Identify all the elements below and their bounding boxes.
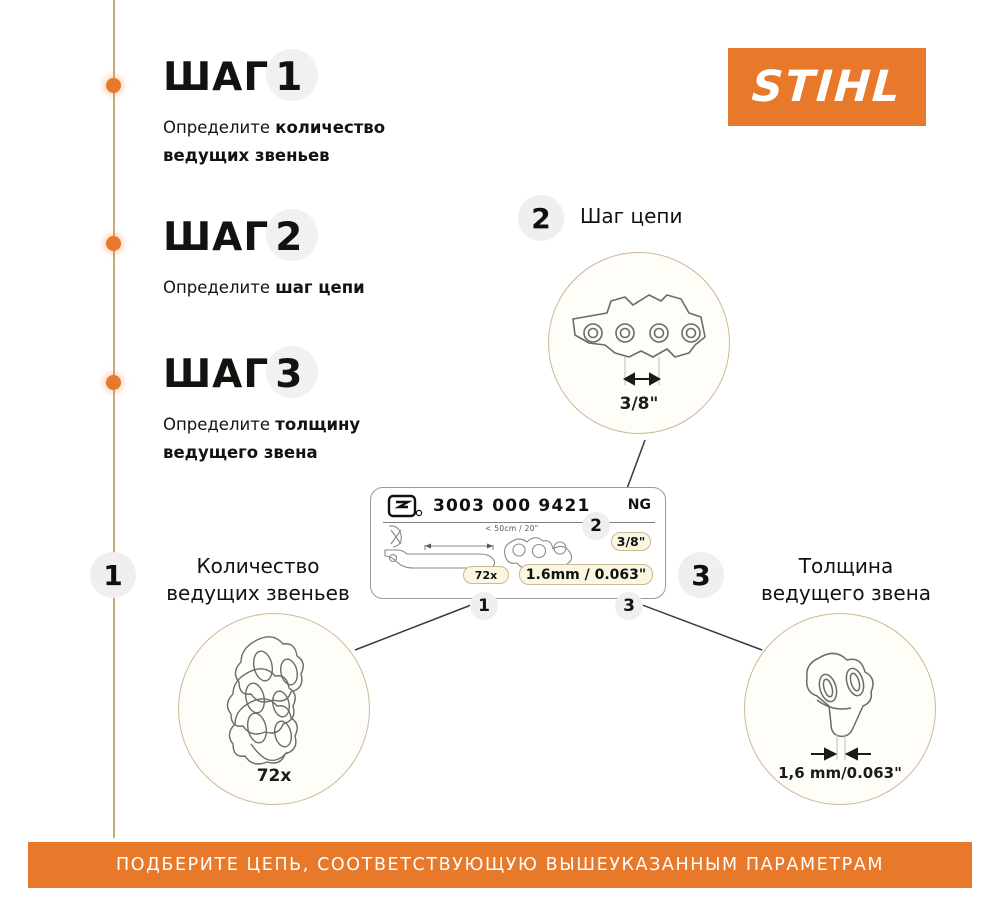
stihl-logo: STIHL	[728, 48, 926, 126]
label-ng-code: NG	[628, 497, 651, 513]
step-3-desc-plain: Определите	[163, 415, 275, 434]
callout-title-3: Толщина ведущего звена	[728, 553, 964, 607]
timeline-dot-step-2	[106, 236, 121, 251]
detail-caption-pitch: 3/8"	[549, 394, 729, 414]
callout-title-3-line2: ведущего звена	[728, 580, 964, 607]
label-highlight-links: 72x	[463, 566, 509, 584]
label-bar-length: < 50cm / 20"	[485, 524, 539, 533]
detail-caption-gauge: 1,6 mm/0.063"	[745, 764, 935, 782]
step-1-heading-word: ШАГ	[163, 55, 269, 100]
stihl-logo-text: STIHL	[750, 62, 903, 112]
detail-circle-gauge: 1,6 mm/0.063"	[744, 613, 936, 805]
label-marker-2: 2	[582, 512, 610, 540]
timeline-dot-step-1	[106, 78, 121, 93]
step-1-description: Определите количество ведущих звеньев	[163, 114, 433, 170]
bottom-banner-text: ПОДБЕРИТЕ ЦЕПЬ, СООТВЕТСТВУЮЩУЮ ВЫШЕУКАЗ…	[116, 855, 884, 875]
step-2-heading-word: ШАГ	[163, 215, 269, 260]
label-highlight-pitch: 3/8"	[611, 532, 651, 551]
step-3-heading: ШАГ3	[163, 352, 393, 397]
label-part-number: 3003 000 9421	[433, 496, 591, 516]
callout-title-3-line1: Толщина	[728, 553, 964, 580]
detail-caption-links: 72x	[179, 766, 369, 786]
step-3: ШАГ3 Определите толщину ведущего звена	[163, 352, 393, 467]
step-2-desc-plain: Определите	[163, 278, 275, 297]
callout-badge-1: 1	[90, 552, 136, 598]
detail-circle-drive-links: 72x	[178, 613, 370, 805]
step-2-heading-number: 2	[275, 215, 303, 260]
step-3-heading-number: 3	[275, 352, 303, 397]
step-1-heading-number: 1	[275, 55, 303, 100]
timeline-dot-step-3	[106, 375, 121, 390]
step-2-heading: ШАГ2	[163, 215, 453, 260]
step-3-heading-word: ШАГ	[163, 352, 269, 397]
step-1-desc-plain: Определите	[163, 118, 275, 137]
callout-badge-2: 2	[518, 195, 564, 241]
callout-title-1: Количество ведущих звеньев	[140, 553, 376, 607]
label-highlight-gauge: 1.6mm / 0.063"	[519, 564, 653, 585]
step-2-description: Определите шаг цепи	[163, 274, 453, 302]
step-2-desc-bold: шаг цепи	[275, 278, 364, 297]
detail-circle-chain-pitch: 3/8"	[548, 252, 730, 434]
callout-title-2: Шаг цепи	[580, 203, 760, 230]
step-1: ШАГ1 Определите количество ведущих звень…	[163, 55, 433, 170]
step-1-heading: ШАГ1	[163, 55, 433, 100]
step-3-description: Определите толщину ведущего звена	[163, 411, 393, 467]
bottom-banner: ПОДБЕРИТЕ ЦЕПЬ, СООТВЕТСТВУЮЩУЮ ВЫШЕУКАЗ…	[28, 842, 972, 888]
callout-badge-3: 3	[678, 552, 724, 598]
label-marker-3: 3	[615, 592, 643, 620]
callout-title-1-line2: ведущих звеньев	[140, 580, 376, 607]
label-marker-1: 1	[470, 592, 498, 620]
timeline-track	[113, 0, 115, 838]
chainsaw-label-card: 3003 000 9421 NG < 50cm / 20" 3/8"	[370, 487, 666, 599]
callout-title-1-line1: Количество	[140, 553, 376, 580]
infographic-canvas: ШАГ1 Определите количество ведущих звень…	[0, 0, 1000, 900]
step-2: ШАГ2 Определите шаг цепи	[163, 215, 453, 302]
stihl-mark-icon	[387, 494, 427, 520]
